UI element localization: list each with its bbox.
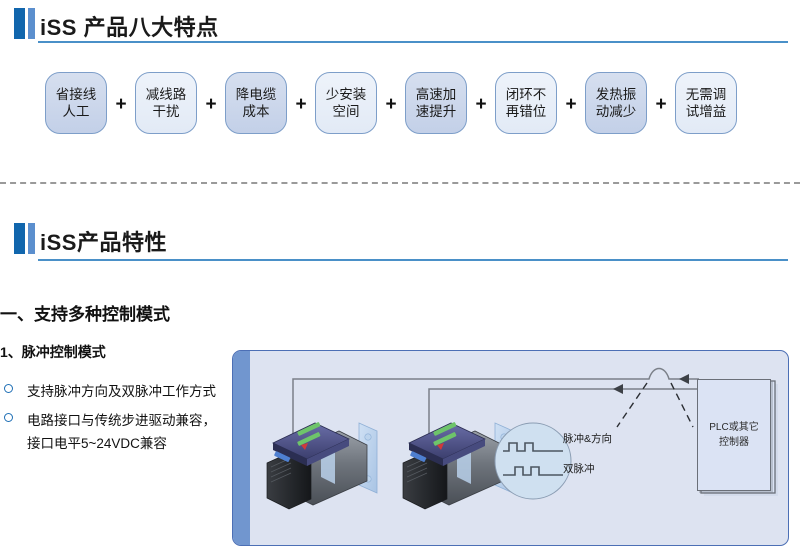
chip-line-2: 试增益 xyxy=(686,103,727,120)
label-dual-pulse: 双脉冲 xyxy=(563,461,595,476)
chip-line-2: 再错位 xyxy=(506,103,547,120)
chip-line-1: 降电缆 xyxy=(236,86,277,103)
heading-accent-bar-light xyxy=(28,8,35,39)
chip-line-2: 动减少 xyxy=(596,103,637,120)
chip-line-1: 发热振 xyxy=(596,86,637,103)
chip-line-1: 无需调 xyxy=(686,86,727,103)
chip-line-2: 速提升 xyxy=(416,103,457,120)
chip-separator-2: + xyxy=(204,94,218,116)
section-divider xyxy=(0,182,800,184)
feature-chip-row: 省接线 人工 + 减线路 干扰 + 降电缆 成本 + 少安装 空间 + 高速加 … xyxy=(0,72,800,134)
waveform-callout xyxy=(495,423,571,499)
diagram-panel: PLC或其它 控制器 脉冲&方向 双脉冲 xyxy=(232,350,789,546)
chip-line-1: 省接线 xyxy=(56,86,97,103)
feature-chip-3[interactable]: 降电缆 成本 xyxy=(225,72,287,134)
chip-line-1: 减线路 xyxy=(146,86,187,103)
feature-chip-7[interactable]: 发热振 动减少 xyxy=(585,72,647,134)
chip-separator-4: + xyxy=(384,94,398,116)
chip-line-1: 少安装 xyxy=(326,86,367,103)
heading-accent-bar-dark xyxy=(14,223,25,254)
circle-bullet-icon xyxy=(4,384,13,393)
bullet-list: 支持脉冲方向及双脉冲工作方式 电路接口与传统步进驱动兼容，接口电平5~24VDC… xyxy=(0,380,225,462)
chip-line-2: 干扰 xyxy=(153,103,180,120)
plc-label-line-2: 控制器 xyxy=(719,435,749,450)
label-pulse-direction: 脉冲&方向 xyxy=(563,431,612,446)
integrated-servo-motor-1 xyxy=(267,422,377,509)
list-item: 支持脉冲方向及双脉冲工作方式 xyxy=(0,380,225,403)
feature-chip-4[interactable]: 少安装 空间 xyxy=(315,72,377,134)
heading-accent-bar-dark xyxy=(14,8,25,39)
page-title: iSS 产品八大特点 xyxy=(40,10,219,42)
chip-separator-7: + xyxy=(654,94,668,116)
heading-rule xyxy=(38,41,788,43)
plc-label-line-1: PLC或其它 xyxy=(709,420,758,435)
page-root: iSS 产品八大特点 省接线 人工 + 减线路 干扰 + 降电缆 成本 + 少安… xyxy=(0,0,800,549)
list-item-label: 电路接口与传统步进驱动兼容，接口电平5~24VDC兼容 xyxy=(27,413,216,451)
heading-accent-bar-light xyxy=(28,223,35,254)
subsection-heading-two: 1、脉冲控制模式 xyxy=(0,342,106,362)
chip-separator-1: + xyxy=(114,94,128,116)
circle-bullet-icon xyxy=(4,413,13,422)
feature-chip-2[interactable]: 减线路 干扰 xyxy=(135,72,197,134)
plc-label: PLC或其它 控制器 xyxy=(697,379,771,491)
chip-separator-5: + xyxy=(474,94,488,116)
feature-chip-1[interactable]: 省接线 人工 xyxy=(45,72,107,134)
chip-line-2: 成本 xyxy=(243,103,270,120)
chip-line-2: 人工 xyxy=(63,103,90,120)
chip-separator-3: + xyxy=(294,94,308,116)
subsection-heading-one: 一、支持多种控制模式 xyxy=(0,300,170,325)
list-item: 电路接口与传统步进驱动兼容，接口电平5~24VDC兼容 xyxy=(0,409,225,455)
feature-chip-8[interactable]: 无需调 试增益 xyxy=(675,72,737,134)
feature-chip-6[interactable]: 闭环不 再错位 xyxy=(495,72,557,134)
feature-chip-5[interactable]: 高速加 速提升 xyxy=(405,72,467,134)
chip-line-2: 空间 xyxy=(333,103,360,120)
section-title: iSS产品特性 xyxy=(40,225,167,257)
heading-rule xyxy=(38,259,788,261)
chip-separator-6: + xyxy=(564,94,578,116)
chip-line-1: 闭环不 xyxy=(506,86,547,103)
chip-line-1: 高速加 xyxy=(416,86,457,103)
list-item-label: 支持脉冲方向及双脉冲工作方式 xyxy=(27,384,216,399)
signal-arrowheads xyxy=(613,374,689,394)
